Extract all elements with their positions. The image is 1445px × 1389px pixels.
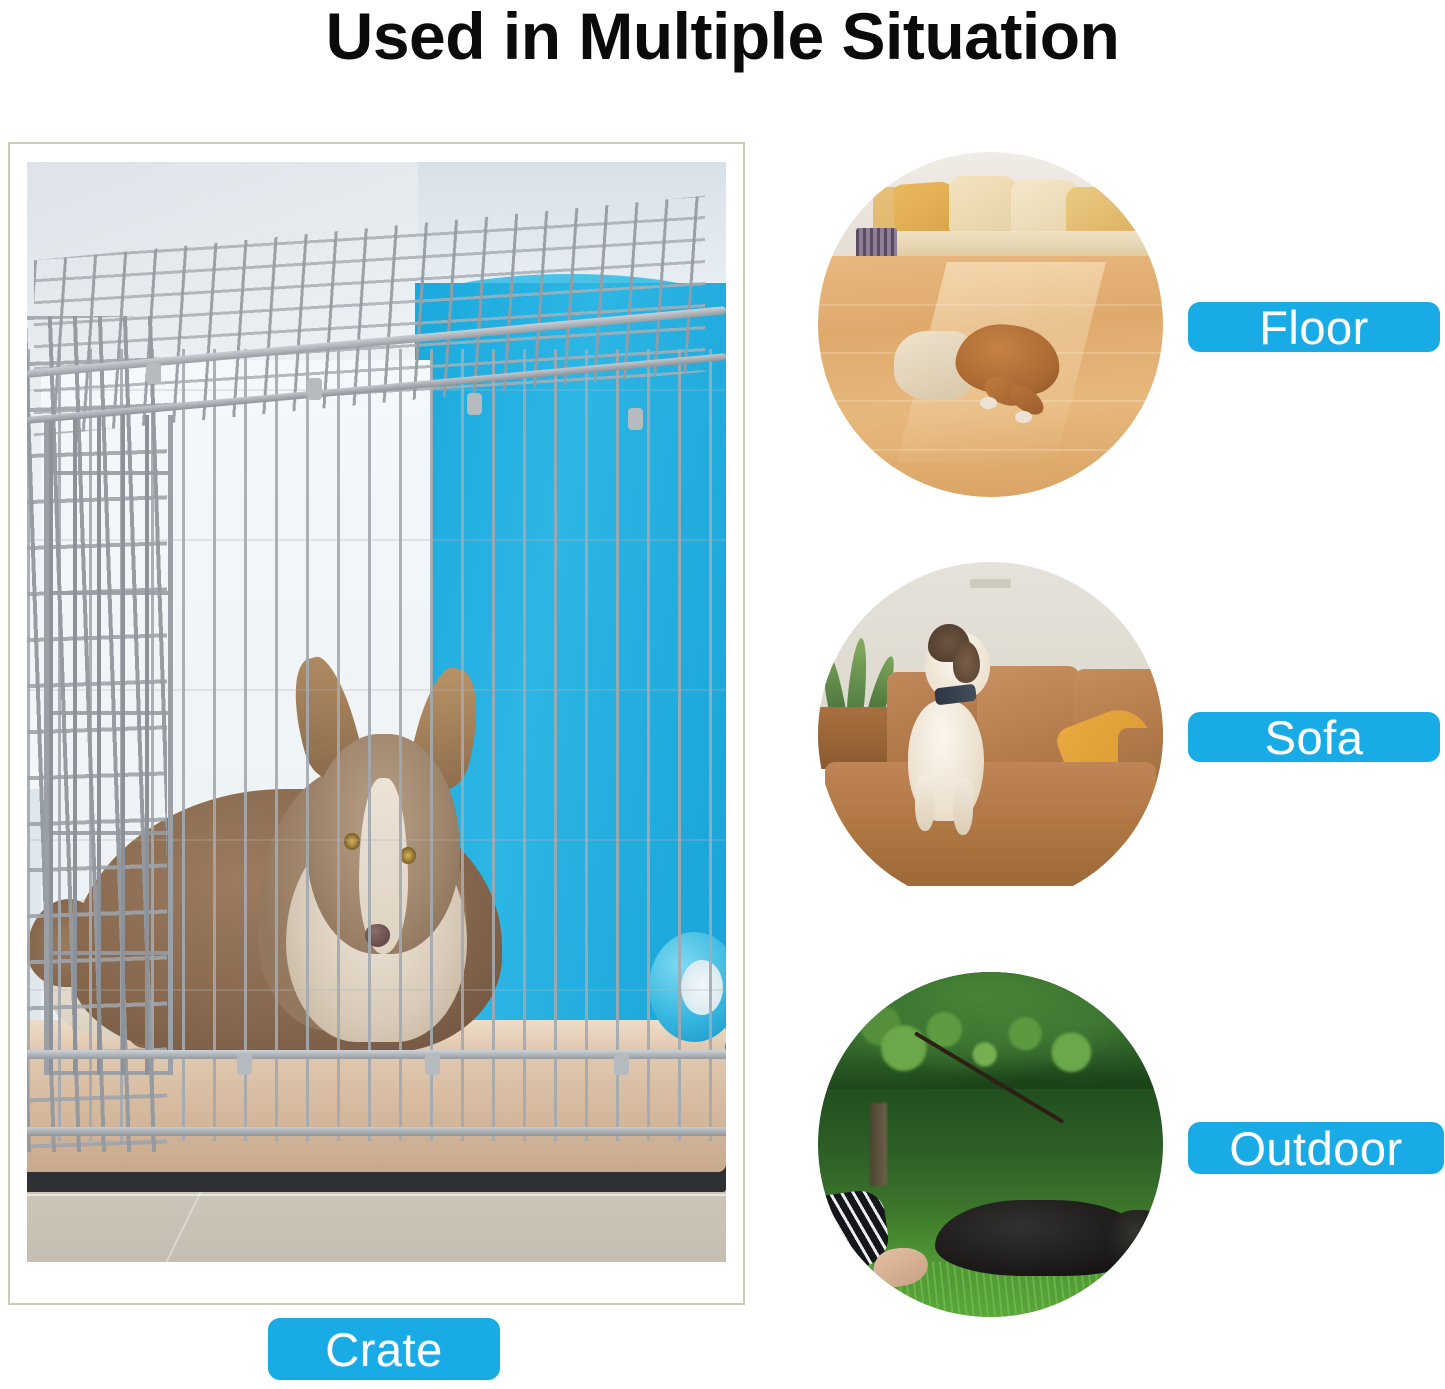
badge-crate[interactable]: Crate: [268, 1318, 500, 1380]
crate-clip: [628, 408, 643, 430]
situation-photo-outdoor: [818, 972, 1163, 1317]
crate-clip: [146, 362, 161, 384]
crate-clip: [425, 1053, 440, 1075]
crate-clip: [237, 1053, 252, 1075]
situation-photo-floor: [818, 152, 1163, 497]
crate-floor-seam: [27, 1194, 726, 1196]
crate-clip: [467, 393, 482, 415]
sofa-scene-dog-ear: [953, 641, 981, 682]
badge-outdoor[interactable]: Outdoor: [1188, 1122, 1444, 1174]
sofa-scene-wall-vent: [970, 579, 1011, 588]
crate-door-panel: [44, 415, 173, 1075]
outdoor-scene-leaves: [846, 1007, 1136, 1111]
crate-clip: [614, 1053, 629, 1075]
floor-scene-cushion: [949, 176, 1018, 235]
sofa-scene-dog-leg: [953, 779, 974, 834]
sofa-scene-dog-leg: [915, 776, 936, 831]
crate-rail-bottom-lower: [27, 1127, 726, 1136]
badge-floor[interactable]: Floor: [1188, 302, 1440, 352]
outdoor-scene-tree-trunk: [870, 1103, 887, 1186]
sofa-scene-seat-front: [832, 824, 1156, 886]
page-title: Used in Multiple Situation: [0, 0, 1445, 76]
crate-panel: [8, 142, 745, 1305]
crate-photo: [27, 162, 726, 1262]
badge-sofa[interactable]: Sofa: [1188, 712, 1440, 762]
crate-clip: [307, 378, 322, 400]
sofa-scene-plant-pot: [818, 707, 894, 769]
situation-photo-sofa: [818, 562, 1163, 907]
floor-scene-dog-paw: [1015, 411, 1032, 423]
